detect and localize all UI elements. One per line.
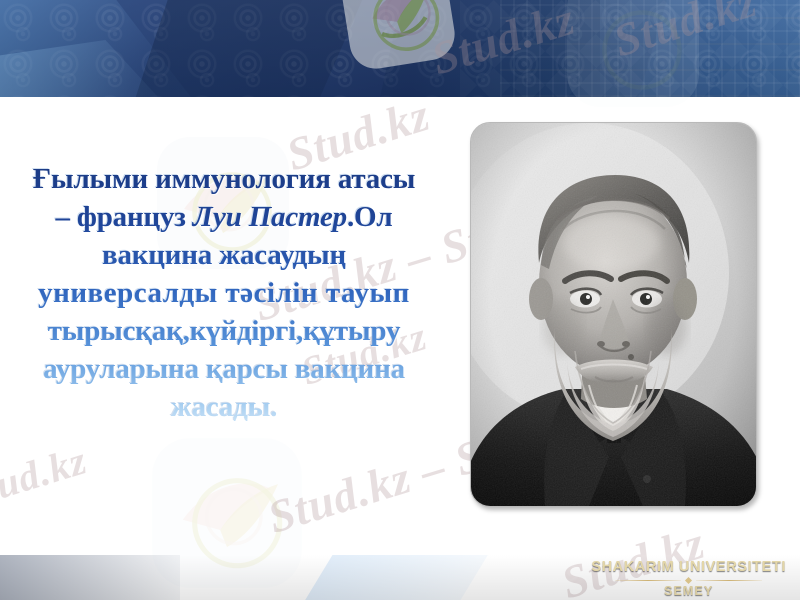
text-line-2-suffix: .Ол (347, 201, 392, 233)
text-line-5: тырысқақ,күйдіргі,құтыру (0, 312, 448, 350)
university-branding: SHAKARIM UNIVERSITETI SEMEY (591, 559, 786, 598)
text-line-3: вакцина жасаудың (0, 236, 448, 274)
slide-header-banner (0, 0, 800, 97)
diamond-ornament-icon (685, 577, 692, 584)
text-line-2: – француз Луи Пастер.Ол (0, 198, 448, 236)
slide-body-text: Ғылыми иммунология атасы – француз Луи П… (0, 160, 448, 426)
presentation-slide: Stud.kz Stud.kz Stud.kz Stud.kz – Stud.k… (0, 0, 800, 600)
text-line-1: Ғылыми иммунология атасы (0, 160, 448, 198)
university-city: SEMEY (591, 584, 786, 598)
text-line-2-prefix: – француз (56, 201, 193, 233)
gold-divider-rule (591, 578, 786, 583)
text-line-6: ауруларына қарсы вакцина (0, 350, 448, 388)
slide-footer-banner: SHAKARIM UNIVERSITETI SEMEY (0, 555, 800, 600)
divider-line-left (615, 580, 681, 581)
louis-pasteur-portrait-image (470, 122, 757, 507)
text-line-7: жасады. (0, 388, 448, 426)
university-name: SHAKARIM UNIVERSITETI (591, 559, 786, 576)
text-line-4: универсалды тәсілін тауып (0, 274, 448, 312)
pasteur-name-highlight: Луи Пастер (193, 201, 347, 233)
divider-line-right (696, 580, 762, 581)
watermark-text: Stud.kz (0, 436, 92, 518)
